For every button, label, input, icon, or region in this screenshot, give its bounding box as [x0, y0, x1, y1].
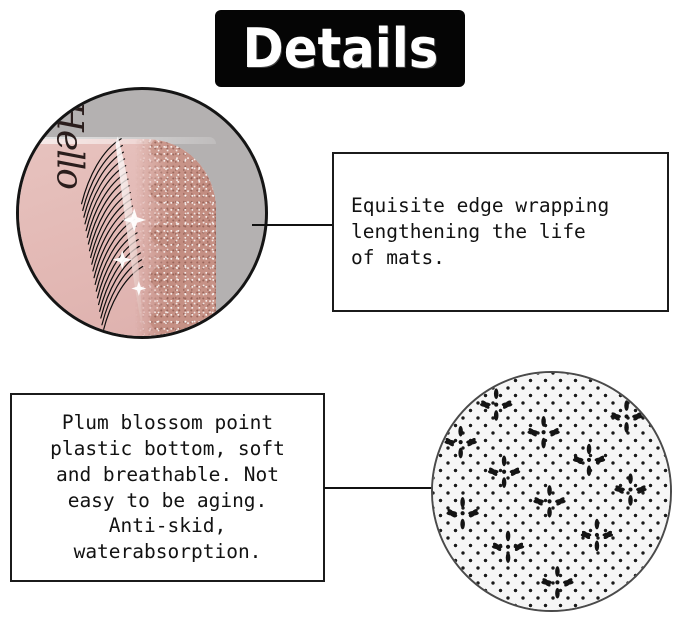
callout-text-plum-blossom: Plum blossom point plastic bottom, soft … — [20, 410, 315, 564]
callout-box-edge-wrapping: Equisite edge wrapping lengthening the l… — [332, 152, 669, 312]
hello-script-text: Hello — [49, 101, 90, 233]
plum-blossom-anti-skid-backing-photo — [431, 371, 672, 612]
product-detail-page: Details — [0, 0, 679, 619]
callout-text-edge-wrapping: Equisite edge wrapping lengthening the l… — [351, 193, 661, 270]
page-title: Details — [242, 22, 438, 76]
connector-line-top — [252, 224, 334, 226]
connector-line-bottom — [324, 487, 440, 489]
plum-blossom-motifs — [433, 373, 670, 610]
callout-box-plum-blossom: Plum blossom point plastic bottom, soft … — [10, 393, 325, 582]
pink-bath-mat-feather-photo: Hello — [16, 87, 268, 339]
details-title-banner: Details — [215, 10, 465, 87]
